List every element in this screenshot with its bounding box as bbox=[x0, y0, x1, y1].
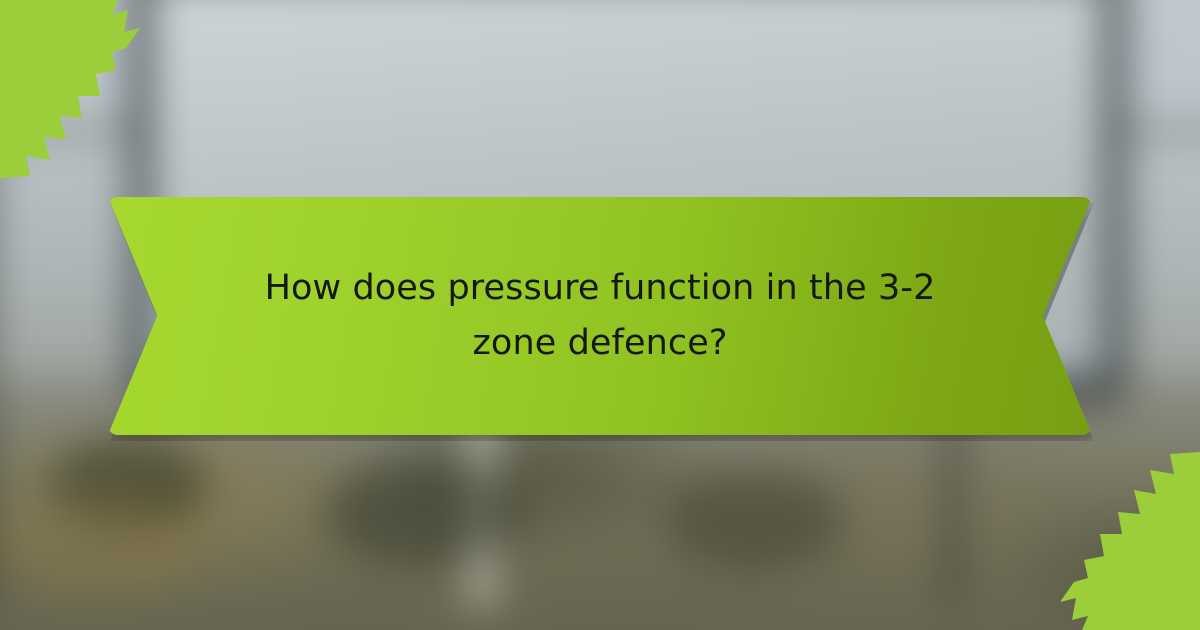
foliage-blob-3 bbox=[664, 469, 844, 570]
question-text: How does pressure function in the 3-2 zo… bbox=[108, 261, 1092, 371]
ribbon-banner: How does pressure function in the 3-2 zo… bbox=[108, 197, 1092, 435]
foliage-blob-2 bbox=[324, 458, 525, 564]
question-card: How does pressure function in the 3-2 zo… bbox=[0, 0, 1200, 630]
